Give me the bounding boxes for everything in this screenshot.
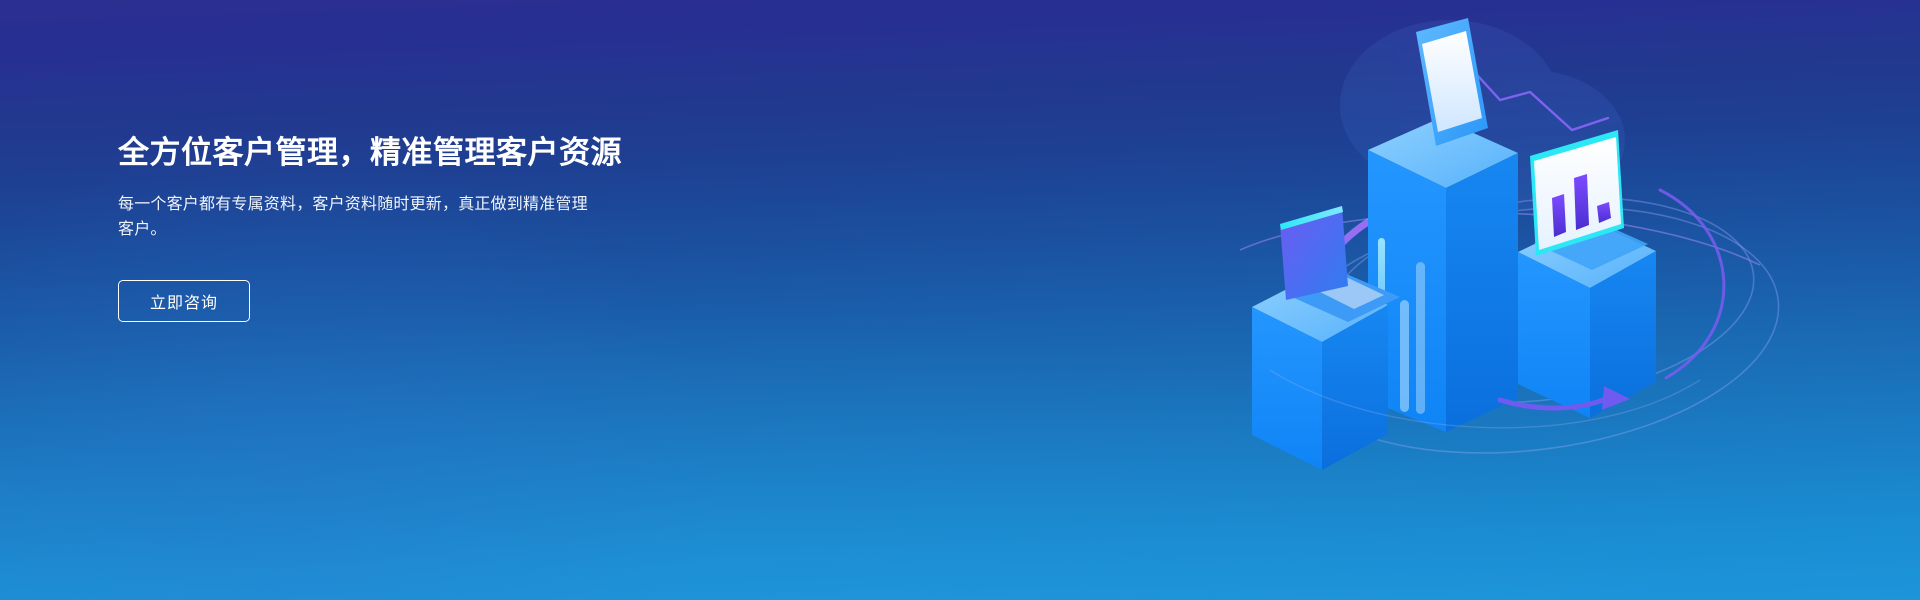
hero-illustration: [1200, 0, 1920, 600]
hero-subtitle: 每一个客户都有专属资料，客户资料随时更新，真正做到精准管理客户。: [118, 192, 598, 242]
hero-content: 全方位客户管理，精准管理客户资源 每一个客户都有专属资料，客户资料随时更新，真正…: [118, 132, 678, 322]
pillar-center: [1368, 118, 1518, 432]
hero-banner: 全方位客户管理，精准管理客户资源 每一个客户都有专属资料，客户资料随时更新，真正…: [0, 0, 1920, 600]
consult-now-button[interactable]: 立即咨询: [118, 280, 250, 322]
page-title: 全方位客户管理，精准管理客户资源: [118, 132, 678, 174]
